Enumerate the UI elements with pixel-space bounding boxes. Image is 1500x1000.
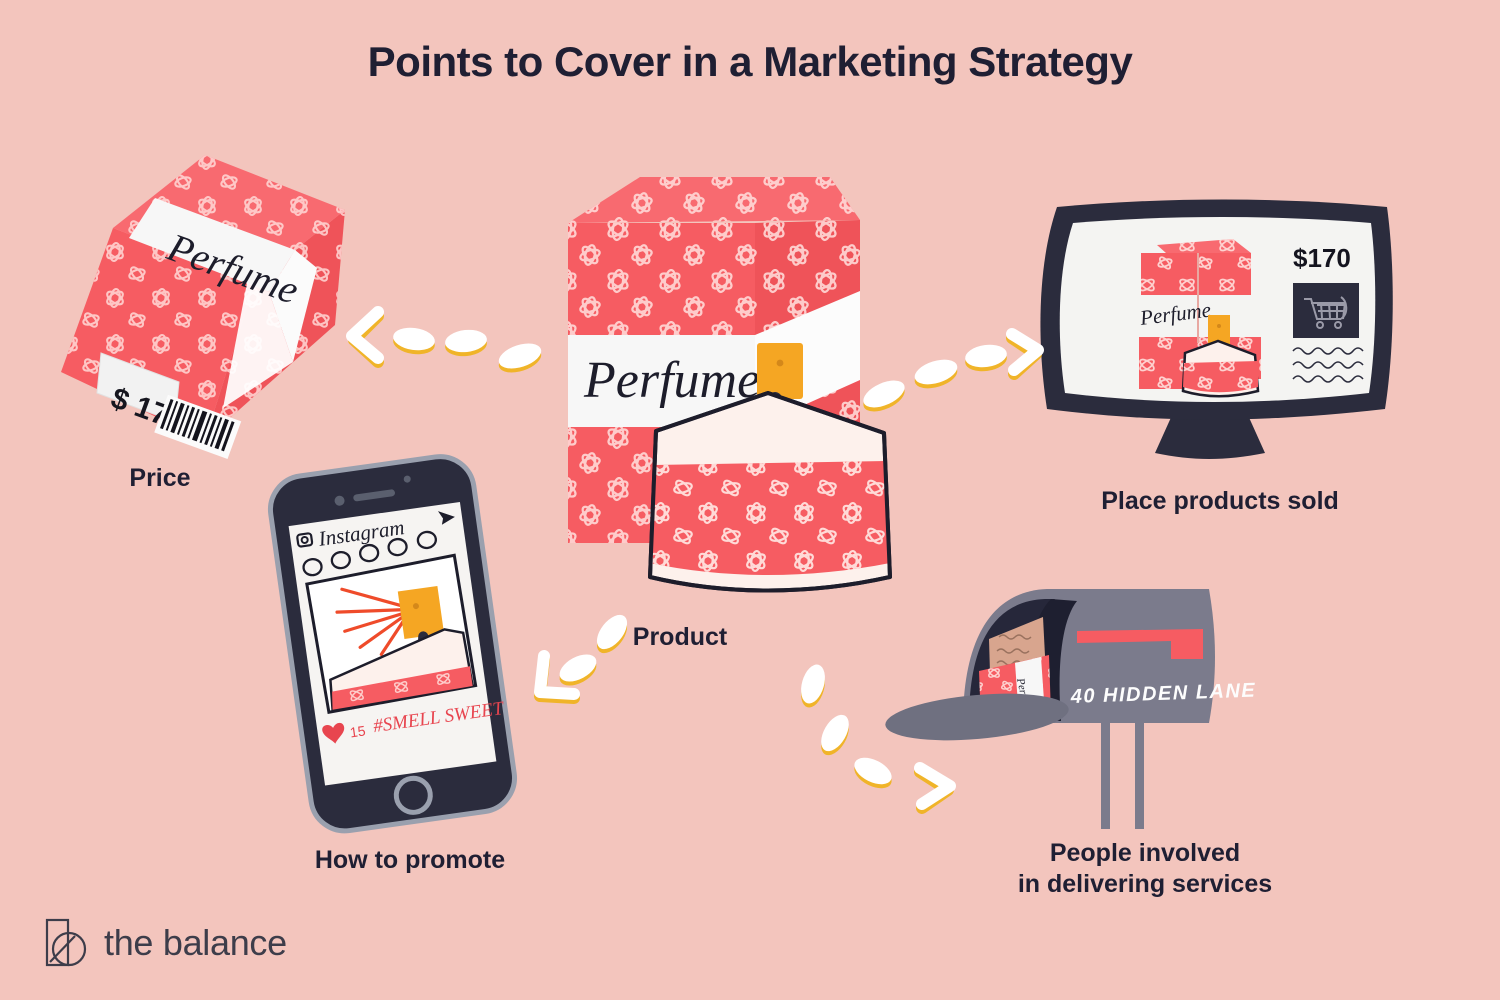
- footer-logo[interactable]: the balance: [44, 918, 287, 968]
- arrow-layer: [0, 0, 1500, 1000]
- balance-logo-mark: [44, 918, 90, 968]
- arrow-product-to-promote: [540, 609, 633, 698]
- footer-brand-text: the balance: [104, 922, 287, 964]
- infographic-canvas: Points to Cover in a Marketing Strategy: [0, 0, 1500, 1000]
- arrow-product-to-price: [352, 312, 544, 377]
- arrow-product-to-people: [797, 662, 950, 808]
- arrow-product-to-place: [859, 334, 1038, 417]
